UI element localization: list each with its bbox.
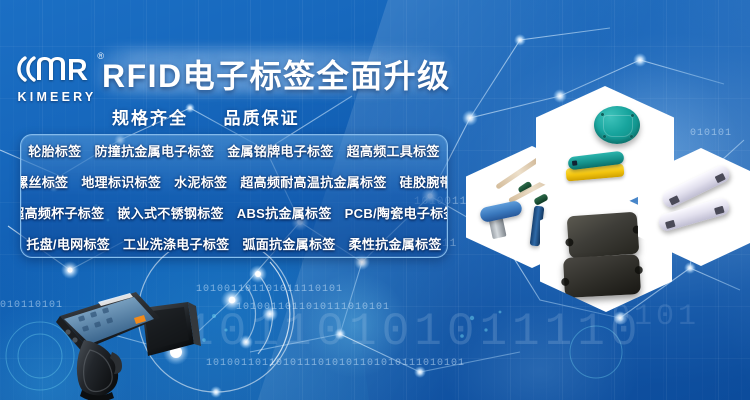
brand-name: KIMEERY xyxy=(14,90,100,104)
tag-contact-pad xyxy=(669,195,680,205)
binary-large-2: 0101 xyxy=(612,300,700,334)
tag-row: 轮胎标签 防撞抗金属电子标签 金属铭牌电子标签 超高频工具标签 xyxy=(21,135,447,166)
disc-hole xyxy=(601,113,604,116)
disc-hole xyxy=(630,135,633,138)
tag-contact-pad xyxy=(665,220,676,229)
brand-logo[interactable]: ® KIMEERY xyxy=(14,52,106,110)
tag-contact-pad xyxy=(714,206,725,215)
disc-hole xyxy=(631,114,634,117)
tag-item[interactable]: 超高频耐高温抗金属标签 xyxy=(240,172,386,191)
round-disc-tag xyxy=(594,106,640,144)
tag-row: 超高频杯子标签 嵌入式不锈钢标签 ABS抗金属标签 PCB/陶瓷电子标签 xyxy=(21,197,447,228)
tag-item[interactable]: PCB/陶瓷电子标签 xyxy=(345,203,448,222)
handheld-rfid-reader[interactable] xyxy=(38,272,228,400)
subtitle-left: 规格齐全 xyxy=(112,109,188,128)
tag-item[interactable]: 轮胎标签 xyxy=(28,141,81,160)
tag-item[interactable]: 地理标识标签 xyxy=(81,172,161,191)
binary-line-8: 010101 xyxy=(690,128,732,139)
tag-item[interactable]: 螺丝标签 xyxy=(20,172,68,191)
tag-item[interactable]: 金属铭牌电子标签 xyxy=(227,141,333,160)
tag-notch xyxy=(561,278,569,286)
abs-anti-metal-tag-back xyxy=(563,254,641,298)
tag-item[interactable]: 超高频工具标签 xyxy=(347,141,440,160)
tag-item[interactable]: 嵌入式不锈钢标签 xyxy=(117,203,223,222)
chip-icon xyxy=(572,160,578,166)
page-subtitle: 规格齐全 品质保证 xyxy=(112,104,299,129)
tag-item[interactable]: ABS抗金属标签 xyxy=(237,203,332,222)
rfid-promo-banner: 10110101011110 0101 10100110110101111010… xyxy=(0,0,750,400)
disc-hole xyxy=(603,135,606,138)
tag-item[interactable]: 柔性抗金属标签 xyxy=(349,234,442,253)
tag-notch xyxy=(635,266,643,274)
tag-row: 托盘/电网标签 工业洗涤电子标签 弧面抗金属标签 柔性抗金属标签 xyxy=(21,228,447,258)
tag-item[interactable]: 水泥标签 xyxy=(174,172,227,191)
tag-item[interactable]: 工业洗涤电子标签 xyxy=(123,234,229,253)
tag-item[interactable]: 弧面抗金属标签 xyxy=(242,234,335,253)
tag-item[interactable]: 防撞抗金属电子标签 xyxy=(94,141,214,160)
tag-item[interactable]: 硅胶腕带 xyxy=(400,172,448,191)
tag-notch xyxy=(565,238,574,247)
tag-item[interactable]: 超高频杯子标签 xyxy=(20,203,104,222)
tag-row: 螺丝标签 地理标识标签 水泥标签 超高频耐高温抗金属标签 硅胶腕带 xyxy=(21,166,447,197)
page-title: RFID电子标签全面升级 xyxy=(102,51,451,97)
tag-contact-pad xyxy=(715,173,726,183)
abs-anti-metal-tag-front xyxy=(567,212,640,259)
product-tag-panel: 轮胎标签 防撞抗金属电子标签 金属铭牌电子标签 超高频工具标签 螺丝标签 地理标… xyxy=(20,134,448,258)
reader-grip xyxy=(77,340,122,400)
tag-item[interactable]: 托盘/电网标签 xyxy=(26,234,110,253)
reader-body xyxy=(56,292,160,354)
subtitle-right: 品质保证 xyxy=(223,109,299,128)
glass-tube-core-2 xyxy=(533,193,549,206)
